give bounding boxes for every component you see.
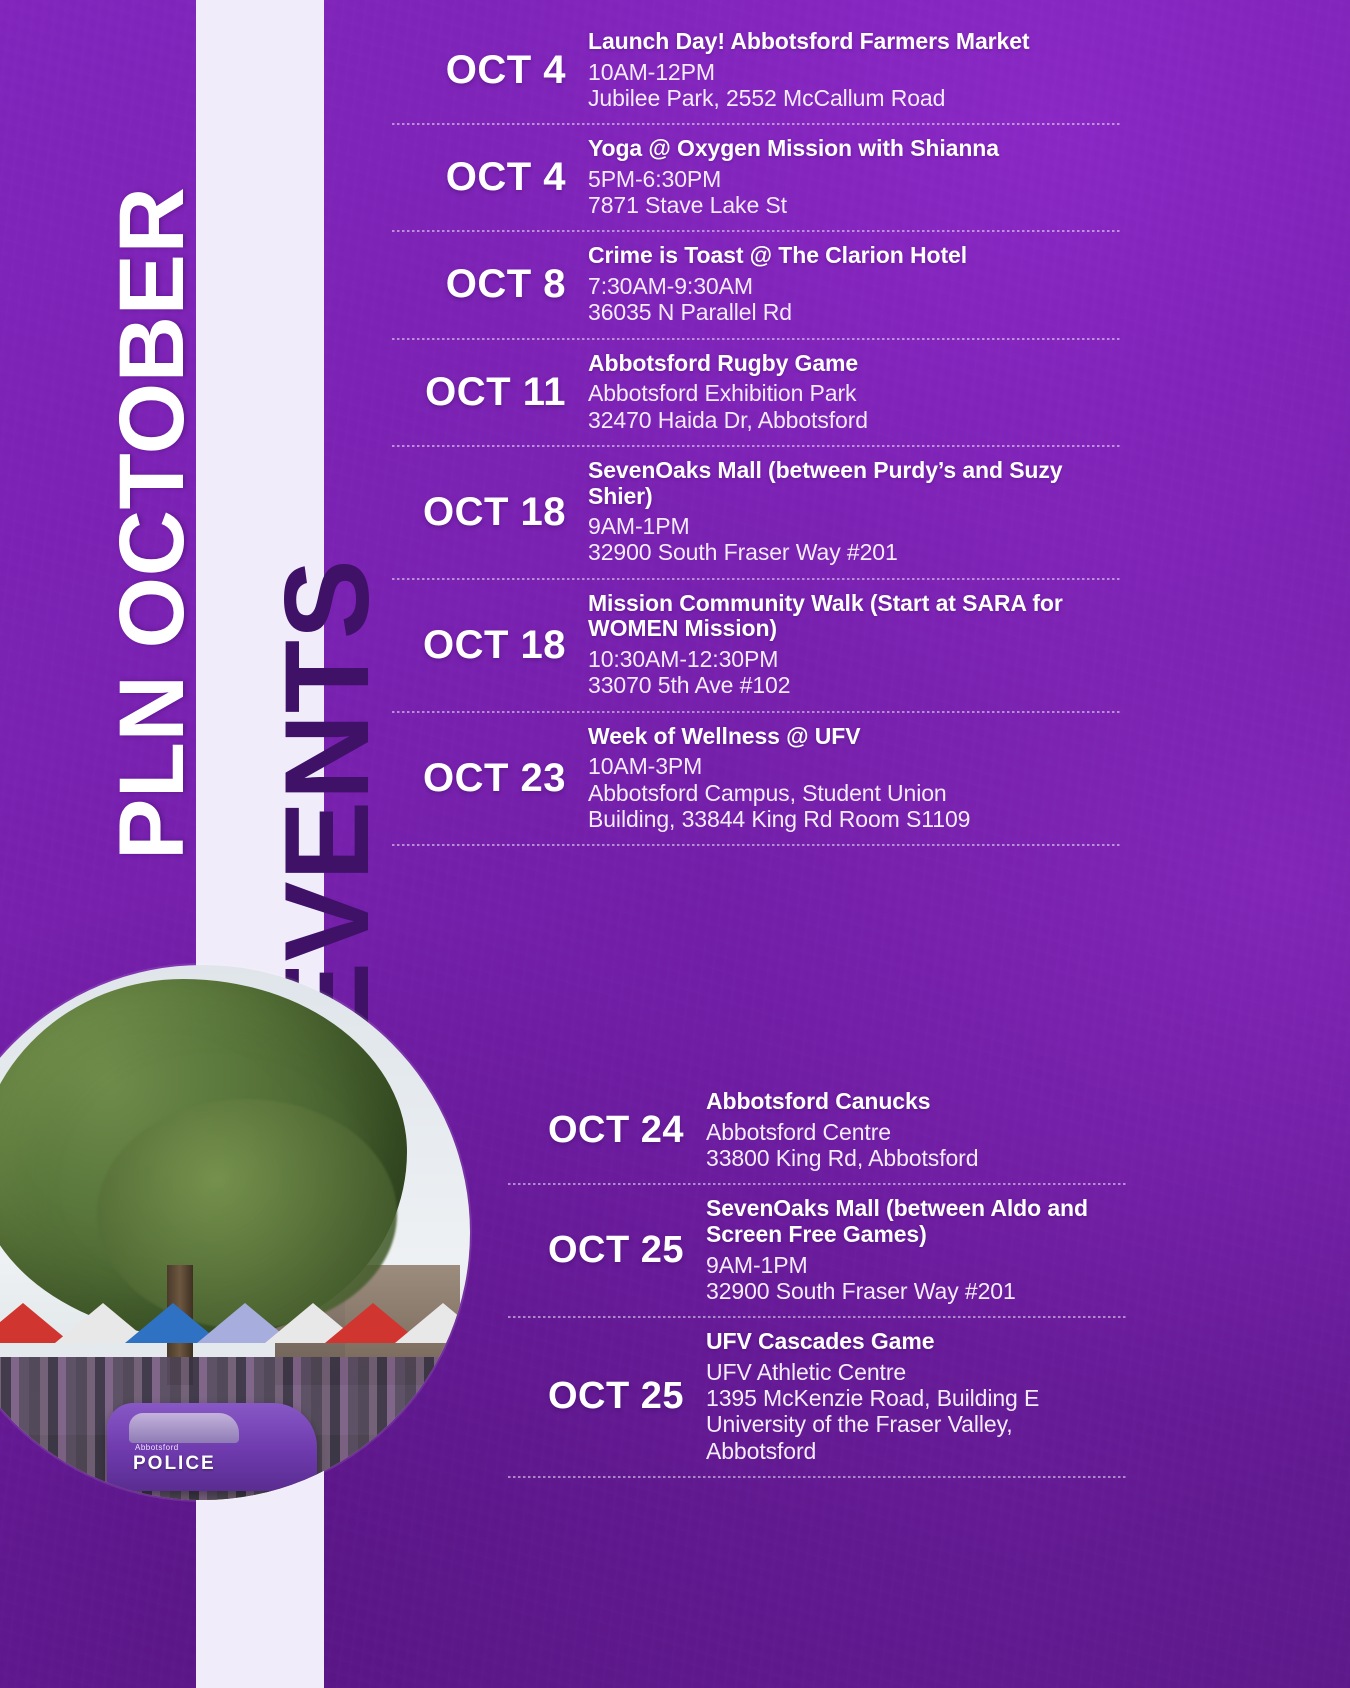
event-time: UFV Athletic Centre <box>706 1359 1128 1385</box>
community-photo: Abbotsford POLICE <box>0 965 470 1500</box>
event-details: 10:30AM-12:30PM33070 5th Ave #102 <box>588 646 1122 698</box>
event-info: UFV Cascades GameUFV Athletic Centre1395… <box>706 1329 1128 1464</box>
event-title: Abbotsford Rugby Game <box>588 351 1122 377</box>
events-list-top: OCT 4Launch Day! Abbotsford Farmers Mark… <box>392 18 1122 846</box>
event-details: 10AM-12PMJubilee Park, 2552 McCallum Roa… <box>588 59 1122 111</box>
photo-dog <box>0 1445 11 1489</box>
event-divider <box>392 578 1122 580</box>
page-title-primary: PLN OCTOBER <box>100 187 205 860</box>
event-row[interactable]: OCT 11Abbotsford Rugby GameAbbotsford Ex… <box>392 340 1122 445</box>
event-title: Launch Day! Abbotsford Farmers Market <box>588 29 1122 55</box>
event-info: Launch Day! Abbotsford Farmers Market10A… <box>588 29 1122 111</box>
event-row[interactable]: OCT 24Abbotsford CanucksAbbotsford Centr… <box>508 1078 1128 1183</box>
event-info: Abbotsford CanucksAbbotsford Centre33800… <box>706 1089 1128 1171</box>
event-divider <box>392 338 1122 340</box>
event-time: Abbotsford Exhibition Park <box>588 380 1122 406</box>
event-date: OCT 25 <box>508 1231 706 1269</box>
event-details: Abbotsford Exhibition Park32470 Haida Dr… <box>588 380 1122 432</box>
event-location: University of the Fraser Valley, <box>706 1411 1128 1437</box>
photo-tent <box>395 1303 470 1343</box>
photo-car-agency: Abbotsford <box>135 1443 179 1452</box>
event-time: 9AM-1PM <box>588 513 1122 539</box>
event-time: 10:30AM-12:30PM <box>588 646 1122 672</box>
event-time: 10AM-3PM <box>588 753 1122 779</box>
event-title: SevenOaks Mall (between Purdy’s and Suzy… <box>588 458 1122 510</box>
event-row[interactable]: OCT 25UFV Cascades GameUFV Athletic Cent… <box>508 1318 1128 1476</box>
event-location: Abbotsford Campus, Student Union <box>588 780 1122 806</box>
event-date: OCT 4 <box>392 157 588 197</box>
event-location: 32470 Haida Dr, Abbotsford <box>588 407 1122 433</box>
event-title: Yoga @ Oxygen Mission with Shianna <box>588 136 1122 162</box>
event-location: Abbotsford <box>706 1438 1128 1464</box>
event-location: 32900 South Fraser Way #201 <box>706 1278 1128 1304</box>
event-date: OCT 24 <box>508 1111 706 1149</box>
event-location: Jubilee Park, 2552 McCallum Road <box>588 85 1122 111</box>
event-row[interactable]: OCT 4Launch Day! Abbotsford Farmers Mark… <box>392 18 1122 123</box>
event-date: OCT 18 <box>392 492 588 532</box>
event-location: 33800 King Rd, Abbotsford <box>706 1145 1128 1171</box>
photo-tree-canopy <box>97 1099 397 1329</box>
event-date: OCT 23 <box>392 758 588 798</box>
event-details: 5PM-6:30PM7871 Stave Lake St <box>588 166 1122 218</box>
event-location: 33070 5th Ave #102 <box>588 672 1122 698</box>
event-location: 36035 N Parallel Rd <box>588 299 1122 325</box>
event-title: Week of Wellness @ UFV <box>588 724 1122 750</box>
event-info: Mission Community Walk (Start at SARA fo… <box>588 591 1122 699</box>
event-date: OCT 11 <box>392 372 588 412</box>
photo-car-label: POLICE <box>133 1453 216 1475</box>
event-details: Abbotsford Centre33800 King Rd, Abbotsfo… <box>706 1119 1128 1171</box>
event-divider <box>392 445 1122 447</box>
event-date: OCT 8 <box>392 264 588 304</box>
event-row[interactable]: OCT 25SevenOaks Mall (between Aldo and S… <box>508 1185 1128 1316</box>
event-time: Abbotsford Centre <box>706 1119 1128 1145</box>
event-row[interactable]: OCT 18SevenOaks Mall (between Purdy’s an… <box>392 447 1122 578</box>
photo-police-car: Abbotsford POLICE <box>107 1403 317 1491</box>
photo-tree <box>0 979 407 1339</box>
event-details: 9AM-1PM32900 South Fraser Way #201 <box>706 1252 1128 1304</box>
event-row[interactable]: OCT 8Crime is Toast @ The Clarion Hotel7… <box>392 232 1122 337</box>
event-date: OCT 25 <box>508 1377 706 1415</box>
event-title: Crime is Toast @ The Clarion Hotel <box>588 243 1122 269</box>
event-location: 1395 McKenzie Road, Building E <box>706 1385 1128 1411</box>
event-time: 5PM-6:30PM <box>588 166 1122 192</box>
event-details: 7:30AM-9:30AM36035 N Parallel Rd <box>588 273 1122 325</box>
event-location: 32900 South Fraser Way #201 <box>588 539 1122 565</box>
event-divider <box>392 123 1122 125</box>
event-row[interactable]: OCT 23Week of Wellness @ UFV10AM-3PMAbbo… <box>392 713 1122 844</box>
event-divider <box>392 711 1122 713</box>
event-row[interactable]: OCT 18Mission Community Walk (Start at S… <box>392 580 1122 711</box>
event-details: 9AM-1PM32900 South Fraser Way #201 <box>588 513 1122 565</box>
event-title: Mission Community Walk (Start at SARA fo… <box>588 591 1122 643</box>
event-info: Crime is Toast @ The Clarion Hotel7:30AM… <box>588 243 1122 325</box>
photo-car-window <box>129 1413 239 1443</box>
event-divider <box>508 1476 1128 1478</box>
event-time: 10AM-12PM <box>588 59 1122 85</box>
event-divider <box>392 230 1122 232</box>
event-date: OCT 4 <box>392 50 588 90</box>
event-date: OCT 18 <box>392 625 588 665</box>
event-row[interactable]: OCT 4Yoga @ Oxygen Mission with Shianna5… <box>392 125 1122 230</box>
event-divider <box>392 844 1122 846</box>
event-info: Week of Wellness @ UFV10AM-3PMAbbotsford… <box>588 724 1122 832</box>
event-details: UFV Athletic Centre1395 McKenzie Road, B… <box>706 1359 1128 1464</box>
event-title: SevenOaks Mall (between Aldo and Screen … <box>706 1196 1128 1248</box>
event-location: Building, 33844 King Rd Room S1109 <box>588 806 1122 832</box>
event-divider <box>508 1183 1128 1185</box>
event-title: UFV Cascades Game <box>706 1329 1128 1355</box>
event-title: Abbotsford Canucks <box>706 1089 1128 1115</box>
event-info: SevenOaks Mall (between Aldo and Screen … <box>706 1196 1128 1304</box>
event-time: 7:30AM-9:30AM <box>588 273 1122 299</box>
events-list-bottom: OCT 24Abbotsford CanucksAbbotsford Centr… <box>508 1078 1128 1478</box>
event-divider <box>508 1316 1128 1318</box>
event-location: 7871 Stave Lake St <box>588 192 1122 218</box>
event-time: 9AM-1PM <box>706 1252 1128 1278</box>
event-info: Abbotsford Rugby GameAbbotsford Exhibiti… <box>588 351 1122 433</box>
event-info: SevenOaks Mall (between Purdy’s and Suzy… <box>588 458 1122 566</box>
event-info: Yoga @ Oxygen Mission with Shianna5PM-6:… <box>588 136 1122 218</box>
event-details: 10AM-3PMAbbotsford Campus, Student Union… <box>588 753 1122 832</box>
